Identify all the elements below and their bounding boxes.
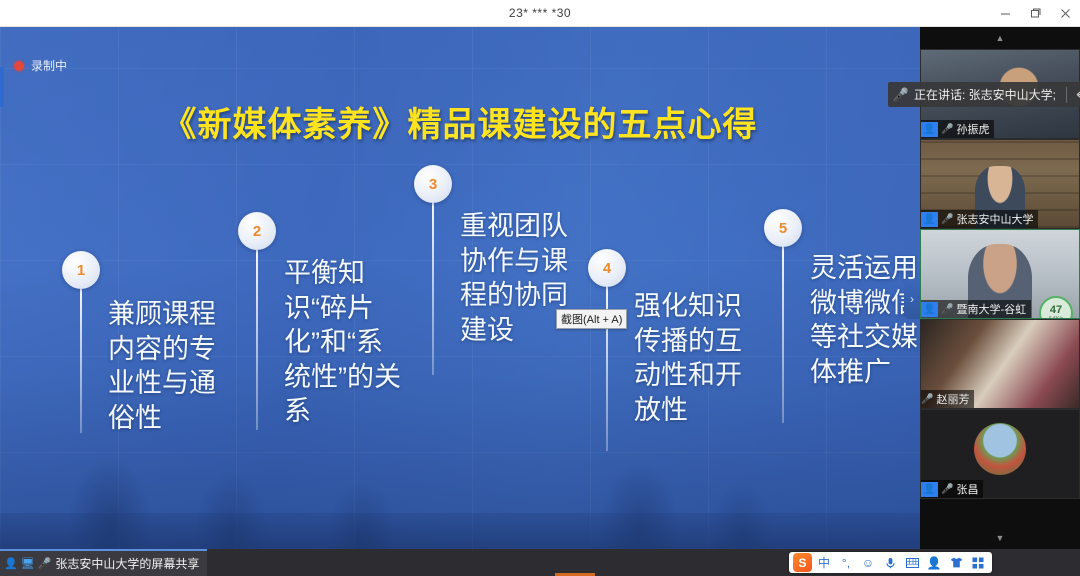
skin-button[interactable] bbox=[946, 553, 966, 572]
slide-item-3: 3 重视团队协作与课程的协同建设 bbox=[388, 165, 500, 375]
soft-keyboard-button[interactable] bbox=[902, 553, 922, 572]
slide-item-4: 4 强化知识传播的互动性和开放性 bbox=[562, 249, 674, 451]
person-icon: 👤 bbox=[921, 302, 938, 317]
chinese-mode-toggle[interactable]: 中 bbox=[814, 553, 834, 572]
participant-tile[interactable]: 🎤 赵丽芳 bbox=[920, 319, 1080, 409]
rail-scroll-down-button[interactable]: ▼ bbox=[920, 527, 1080, 549]
voice-input-button[interactable] bbox=[880, 553, 900, 572]
speaking-banner: 🎤 正在讲话: 张志安中山大学; ↵ bbox=[888, 82, 1080, 107]
recording-dot-icon bbox=[14, 61, 24, 71]
participant-namebar: 👤 🎤 张志安中山大学 bbox=[921, 210, 1038, 228]
taskbar-item-icons: 👤 🖥 🎤 bbox=[4, 557, 51, 570]
microphone-muted-icon: 🎤 bbox=[941, 304, 953, 315]
slide-item-4-number-badge: 4 bbox=[588, 249, 626, 287]
participant-tile[interactable]: 👤 🎤 张昌 bbox=[920, 409, 1080, 499]
participant-name: 张昌 bbox=[956, 481, 978, 497]
recording-label: 录制中 bbox=[31, 57, 67, 74]
slide-items: 1 兼顾课程内容的专业性与通俗性 2 平衡知识“碎片化”和“系统性”的关系 3 … bbox=[0, 27, 920, 549]
participant-namebar: 🎤 赵丽芳 bbox=[921, 390, 974, 408]
person-icon: 👤 bbox=[921, 122, 938, 137]
speaking-label: 正在讲话: 张志安中山大学; bbox=[914, 86, 1066, 103]
shared-screen-area[interactable]: 录制中 《新媒体素养》精品课建设的五点心得 1 兼顾课程内容的专业性与通俗性 2… bbox=[0, 27, 920, 549]
taskbar: 👤 🖥 🎤 张志安中山大学的屏幕共享 S 中 °, ☺ 👤 bbox=[0, 549, 1080, 576]
participant-name: 张志安中山大学 bbox=[956, 211, 1033, 227]
slide-item-2-number-badge: 2 bbox=[238, 212, 276, 250]
meeting-window: 23* *** *30 录制中 《新媒体素养》精品课建设的五点心得 bbox=[0, 0, 1080, 576]
slide-item-5-stem bbox=[782, 247, 784, 423]
person-icon: 👤 bbox=[921, 212, 938, 227]
rail-active-accent bbox=[0, 67, 4, 107]
close-button[interactable] bbox=[1050, 0, 1080, 27]
participant-namebar: 👤 🎤 孙振虎 bbox=[921, 120, 994, 138]
participant-name: 赵丽芳 bbox=[936, 391, 969, 407]
person-icon: 👤 bbox=[4, 557, 18, 570]
microphone-muted-icon: 🎤 bbox=[941, 124, 953, 135]
participant-namebar: 👤 🎤 暨南大学-谷虹 bbox=[921, 300, 1031, 318]
slide-item-1: 1 兼顾课程内容的专业性与通俗性 bbox=[36, 251, 148, 433]
slide-item-1-number-badge: 1 bbox=[62, 251, 100, 289]
restore-button[interactable] bbox=[1020, 0, 1050, 27]
emoji-button[interactable]: ☺ bbox=[858, 553, 878, 572]
sogou-logo-icon[interactable]: S bbox=[793, 553, 812, 572]
recording-indicator: 录制中 bbox=[14, 57, 67, 74]
slide-item-5-number-badge: 5 bbox=[764, 209, 802, 247]
slide-item-4-text: 强化知识传播的互动性和开放性 bbox=[634, 289, 754, 427]
panel-collapse-chevron-icon[interactable]: › bbox=[904, 279, 920, 319]
microphone-muted-icon: 🎤 bbox=[941, 484, 953, 495]
participant-name: 孙振虎 bbox=[956, 121, 989, 137]
microphone-icon: 🎤 bbox=[38, 557, 52, 570]
participant-namebar: 👤 🎤 张昌 bbox=[921, 480, 983, 498]
user-account-button[interactable]: 👤 bbox=[924, 553, 944, 572]
slide-item-3-number-badge: 3 bbox=[414, 165, 452, 203]
monitor-icon: 🖥 bbox=[21, 557, 35, 570]
network-speed-percent: 47 bbox=[1050, 305, 1062, 316]
slide-item-3-stem bbox=[432, 203, 434, 375]
slide-item-1-stem bbox=[80, 289, 82, 433]
minimize-button[interactable] bbox=[990, 0, 1020, 27]
microphone-muted-icon: 🎤 bbox=[888, 87, 914, 103]
slide-item-2-stem bbox=[256, 250, 258, 430]
punctuation-mode-toggle[interactable]: °, bbox=[836, 553, 856, 572]
participant-tiles: 👤 🎤 孙振虎 👤 🎤 张志安中山大学 bbox=[920, 49, 1080, 499]
taskbar-screen-share-item[interactable]: 👤 🖥 🎤 张志安中山大学的屏幕共享 bbox=[0, 549, 207, 576]
meeting-id-title: 23* *** *30 bbox=[509, 6, 571, 20]
screenshot-tooltip: 截图(Alt + A) bbox=[556, 309, 627, 329]
person-icon: 👤 bbox=[921, 482, 938, 497]
microphone-muted-icon: 🎤 bbox=[921, 394, 933, 405]
sogou-ime-toolbar[interactable]: S 中 °, ☺ 👤 bbox=[789, 552, 992, 573]
taskbar-screen-share-label: 张志安中山大学的屏幕共享 bbox=[55, 555, 199, 572]
return-arrow-icon[interactable]: ↵ bbox=[1067, 86, 1080, 103]
participant-tile[interactable]: 👤 🎤 张志安中山大学 bbox=[920, 139, 1080, 229]
slide-item-5-text: 灵活运用微博微信等社交媒体推广 bbox=[810, 251, 920, 389]
participant-name: 暨南大学-谷虹 bbox=[956, 301, 1026, 317]
toolbox-button[interactable] bbox=[968, 553, 988, 572]
participant-tile[interactable]: 👤 🎤 暨南大学-谷虹 47 6.6K/s bbox=[920, 229, 1080, 319]
slide-item-1-text: 兼顾课程内容的专业性与通俗性 bbox=[108, 297, 228, 435]
title-bar: 23* *** *30 bbox=[0, 0, 1080, 27]
rail-scroll-up-button[interactable]: ▲ bbox=[920, 27, 1080, 49]
slide-item-2-text: 平衡知识“碎片化”和“系统性”的关系 bbox=[284, 256, 404, 429]
slide-item-2: 2 平衡知识“碎片化”和“系统性”的关系 bbox=[212, 212, 324, 430]
microphone-icon: 🎤 bbox=[941, 214, 953, 225]
avatar bbox=[974, 423, 1026, 475]
slide-item-5: 5 灵活运用微博微信等社交媒体推广 bbox=[738, 209, 850, 423]
window-controls bbox=[990, 0, 1080, 27]
